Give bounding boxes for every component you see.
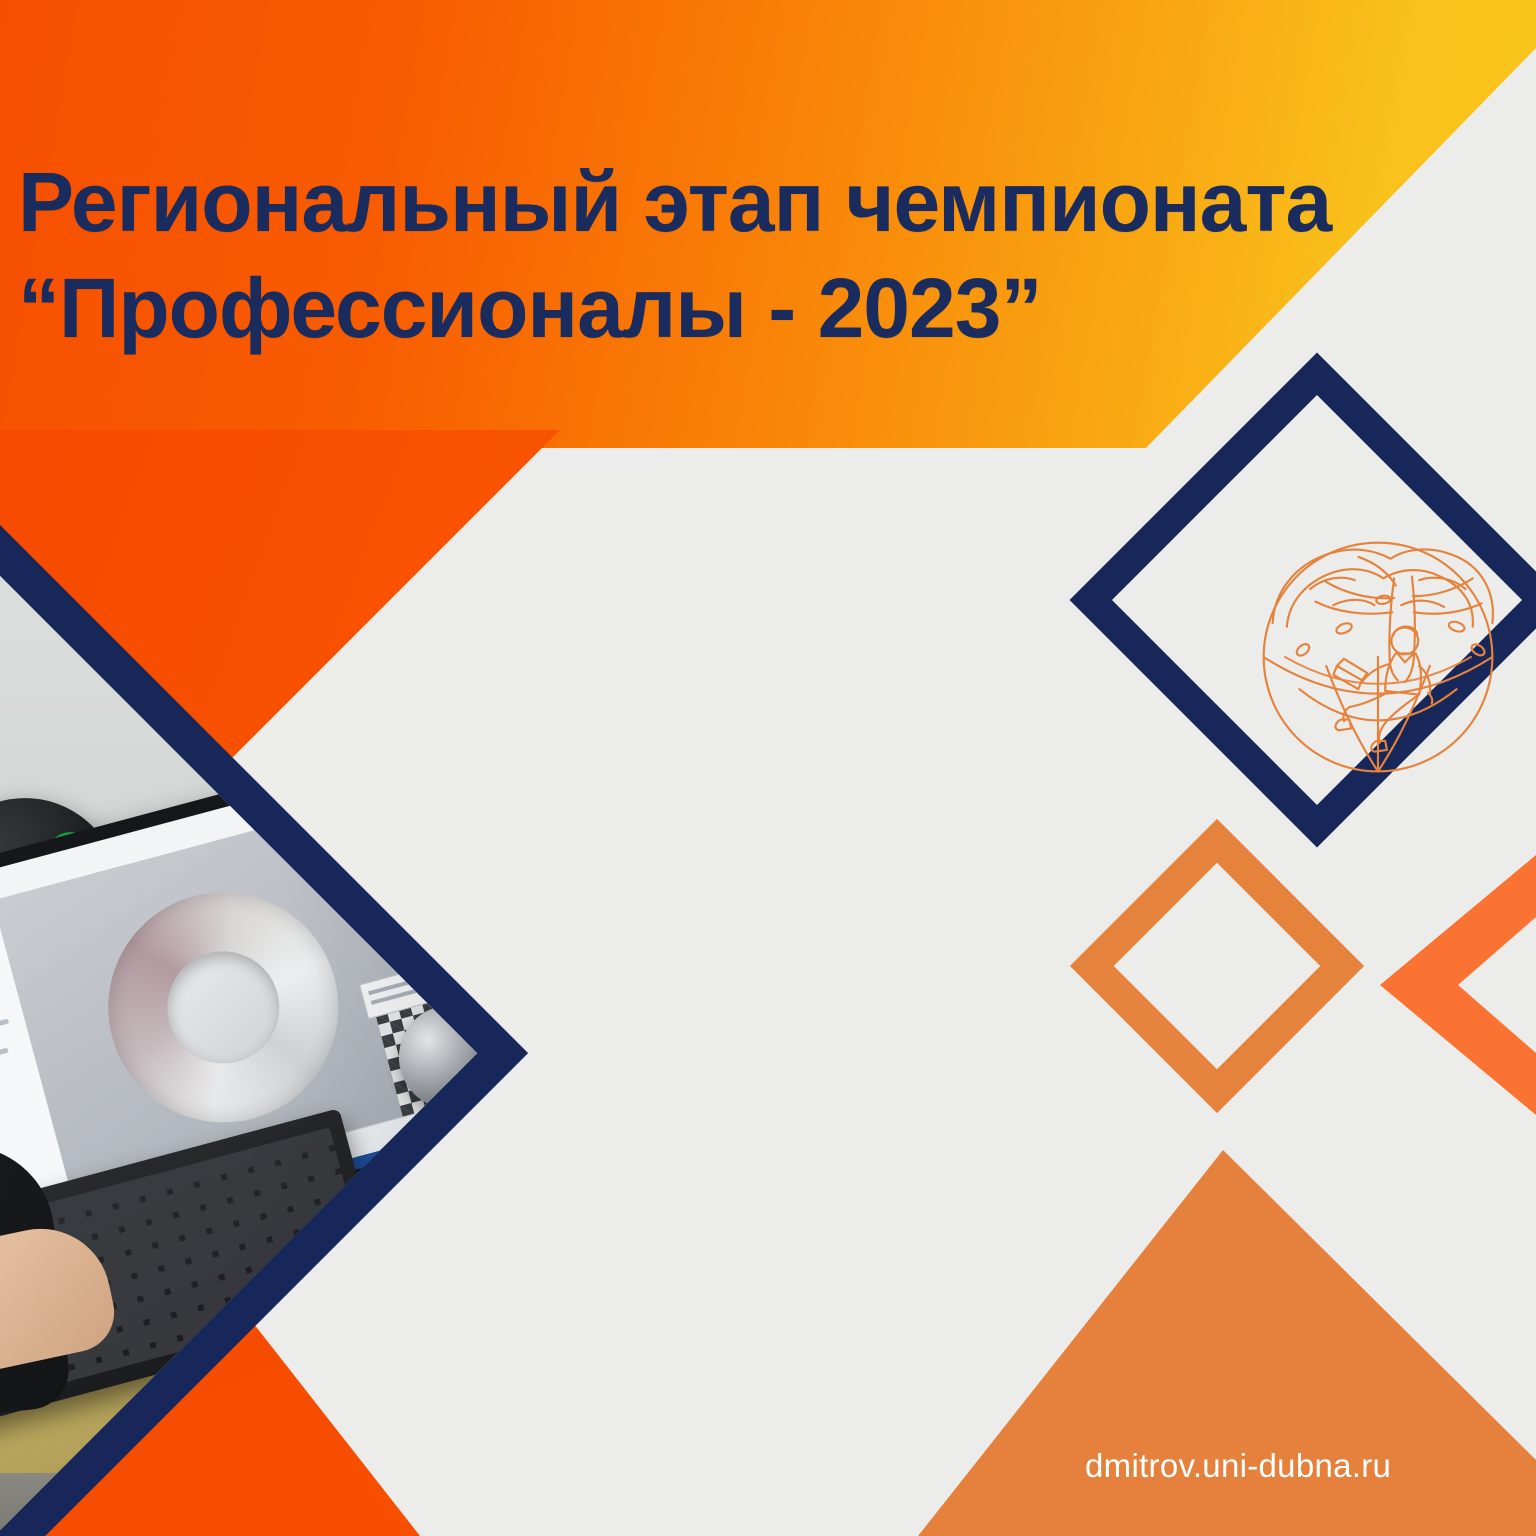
photo-diamond-border [0,445,528,1536]
title-line-2: “Профессионалы - 2023” [18,256,1398,362]
website-url[interactable]: dmitrov.uni-dubna.ru [1085,1447,1391,1485]
photo-diamond [0,445,1135,1536]
student-at-cad-workstation-photo [0,496,477,1536]
poster-canvas: Региональный этап чемпионата “Профессион… [0,0,1536,1536]
page-title: Региональный этап чемпионата “Профессион… [18,44,1398,467]
title-line-1: Региональный этап чемпионата [18,155,1331,249]
photo-clip [0,496,477,1536]
